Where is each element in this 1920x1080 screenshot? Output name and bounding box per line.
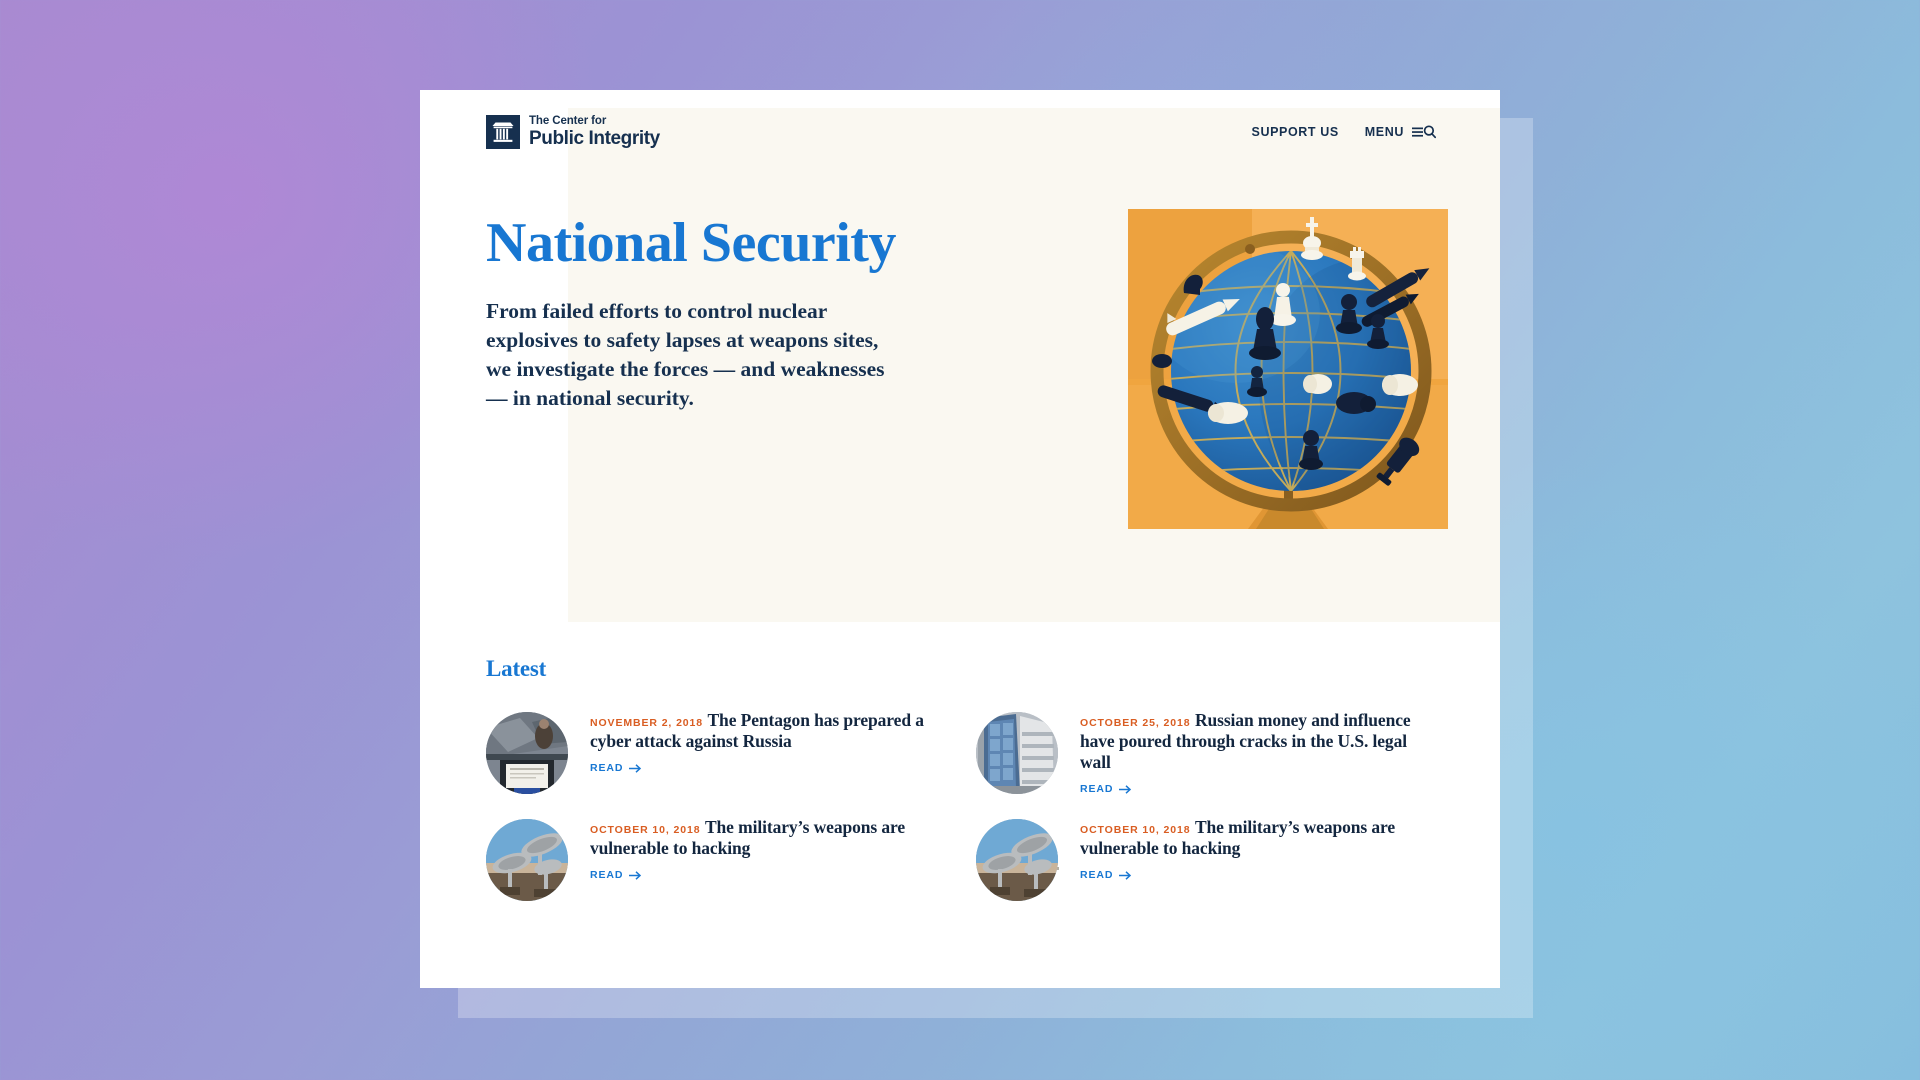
arrow-right-icon: [1119, 870, 1132, 881]
hero-section: National Security From failed efforts to…: [420, 156, 1500, 622]
pillar-icon: [486, 115, 520, 149]
menu-icons: [1412, 125, 1436, 139]
support-us-link[interactable]: SUPPORT US: [1252, 125, 1339, 139]
read-label: READ: [1080, 783, 1113, 795]
chess-piece-dark-far-left: [1152, 354, 1172, 368]
article-date: OCTOBER 10, 2018: [590, 824, 701, 836]
site-logo[interactable]: The Center for Public Integrity: [486, 115, 660, 149]
search-icon: [1425, 126, 1436, 137]
brand-line-2: Public Integrity: [529, 129, 660, 148]
read-label: READ: [590, 762, 623, 774]
arrow-right-icon: [1119, 784, 1132, 795]
article-date: OCTOBER 10, 2018: [1080, 824, 1191, 836]
satellite-dishes-photo: [486, 819, 568, 901]
hero-description: From failed efforts to control nuclear e…: [486, 297, 886, 413]
article-grid: NOVEMBER 2, 2018 The Pentagon has prepar…: [486, 708, 1436, 901]
read-label: READ: [590, 869, 623, 881]
arrow-right-icon: [629, 870, 642, 881]
read-label: READ: [1080, 869, 1113, 881]
glass-office-building-photo: [976, 712, 1058, 794]
article-card[interactable]: OCTOBER 10, 2018 The military’s weapons …: [976, 815, 1436, 901]
header-nav: SUPPORT US MENU: [1252, 125, 1436, 139]
chess-bishop-white-center: [1303, 374, 1332, 394]
page-artifact: [1057, 867, 1059, 870]
latest-heading: Latest: [486, 656, 1436, 682]
brand-line-1: The Center for: [529, 116, 660, 128]
arrow-right-icon: [629, 763, 642, 774]
globe-with-chess-pieces-illustration: [1128, 209, 1448, 529]
brand-wordmark: The Center for Public Integrity: [529, 116, 660, 149]
article-card[interactable]: NOVEMBER 2, 2018 The Pentagon has prepar…: [486, 708, 946, 795]
article-body: NOVEMBER 2, 2018 The Pentagon has prepar…: [590, 708, 946, 774]
article-card[interactable]: OCTOBER 10, 2018 The military’s weapons …: [486, 815, 946, 901]
menu-label: MENU: [1365, 125, 1404, 139]
article-card[interactable]: OCTOBER 25, 2018 Russian money and influ…: [976, 708, 1436, 795]
chess-piece-white-right: [1382, 374, 1418, 396]
article-date: OCTOBER 25, 2018: [1080, 717, 1191, 729]
hamburger-icon: [1412, 125, 1436, 139]
read-link[interactable]: READ: [1080, 869, 1436, 881]
article-body: OCTOBER 10, 2018 The military’s weapons …: [590, 815, 946, 881]
site-header: The Center for Public Integrity SUPPORT …: [420, 90, 1500, 156]
read-link[interactable]: READ: [590, 869, 946, 881]
menu-button[interactable]: MENU: [1365, 125, 1436, 139]
read-link[interactable]: READ: [590, 762, 946, 774]
chess-piece-white-left: [1208, 402, 1248, 424]
pentagon-briefing-photo: [486, 712, 568, 794]
website-page: The Center for Public Integrity SUPPORT …: [420, 90, 1500, 988]
article-date: NOVEMBER 2, 2018: [590, 717, 703, 729]
latest-section: Latest: [420, 622, 1500, 901]
read-link[interactable]: READ: [1080, 783, 1436, 795]
article-body: OCTOBER 10, 2018 The military’s weapons …: [1080, 815, 1436, 881]
article-body: OCTOBER 25, 2018 Russian money and influ…: [1080, 708, 1436, 795]
satellite-dishes-photo: [976, 819, 1058, 901]
